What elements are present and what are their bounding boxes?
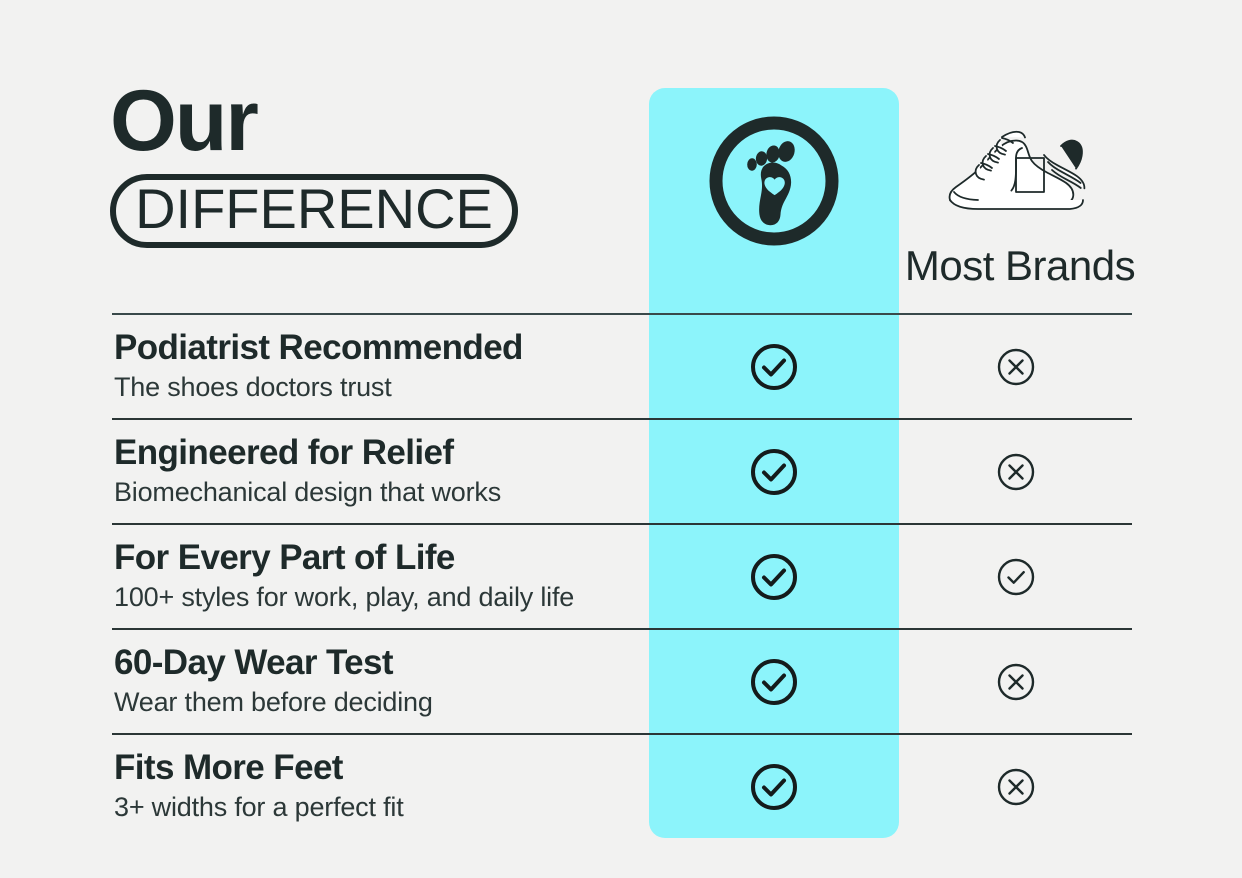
check-icon bbox=[749, 657, 799, 707]
table-row: Fits More Feet 3+ widths for a perfect f… bbox=[112, 735, 1132, 838]
theirs-cell bbox=[899, 452, 1132, 492]
check-icon bbox=[996, 557, 1036, 597]
check-icon bbox=[749, 762, 799, 812]
ours-cell bbox=[649, 447, 899, 497]
page-title-pill-label: DIFFERENCE bbox=[135, 181, 493, 241]
feature-text: Fits More Feet 3+ widths for a perfect f… bbox=[112, 748, 649, 824]
feature-title: Engineered for Relief bbox=[114, 433, 649, 472]
table-row: For Every Part of Life 100+ styles for w… bbox=[112, 525, 1132, 628]
check-icon bbox=[749, 342, 799, 392]
feature-text: Engineered for Relief Biomechanical desi… bbox=[112, 433, 649, 509]
table-row: 60-Day Wear Test Wear them before decidi… bbox=[112, 630, 1132, 733]
feature-subtitle: 100+ styles for work, play, and daily li… bbox=[114, 580, 649, 615]
theirs-cell bbox=[899, 767, 1132, 807]
ours-cell bbox=[649, 762, 899, 812]
ours-cell bbox=[649, 552, 899, 602]
cross-icon bbox=[996, 452, 1036, 492]
feature-title: Podiatrist Recommended bbox=[114, 328, 649, 367]
feature-subtitle: Biomechanical design that works bbox=[114, 475, 649, 510]
check-icon bbox=[749, 447, 799, 497]
page-title: Our bbox=[110, 78, 257, 164]
sneaker-illustration bbox=[944, 104, 1104, 224]
table-row: Engineered for Relief Biomechanical desi… bbox=[112, 420, 1132, 523]
comparison-page: Our DIFFERENCE bbox=[0, 0, 1242, 878]
feature-subtitle: The shoes doctors trust bbox=[114, 370, 649, 405]
ours-cell bbox=[649, 342, 899, 392]
page-header: Our DIFFERENCE bbox=[0, 0, 1242, 310]
ours-cell bbox=[649, 657, 899, 707]
cross-icon bbox=[996, 662, 1036, 702]
theirs-cell bbox=[899, 557, 1132, 597]
theirs-cell bbox=[899, 347, 1132, 387]
feature-subtitle: Wear them before deciding bbox=[114, 685, 649, 720]
page-title-pill: DIFFERENCE bbox=[110, 174, 518, 248]
feature-title: 60-Day Wear Test bbox=[114, 643, 649, 682]
feature-title: For Every Part of Life bbox=[114, 538, 649, 577]
check-icon bbox=[749, 552, 799, 602]
table-row: Podiatrist Recommended The shoes doctors… bbox=[112, 315, 1132, 418]
competitor-column-label: Most Brands bbox=[899, 245, 1141, 287]
feature-text: 60-Day Wear Test Wear them before decidi… bbox=[112, 643, 649, 719]
comparison-table: Podiatrist Recommended The shoes doctors… bbox=[112, 313, 1132, 838]
theirs-cell bbox=[899, 662, 1132, 702]
feature-subtitle: 3+ widths for a perfect fit bbox=[114, 790, 649, 825]
foot-heart-logo-icon bbox=[706, 113, 842, 249]
feature-title: Fits More Feet bbox=[114, 748, 649, 787]
feature-text: For Every Part of Life 100+ styles for w… bbox=[112, 538, 649, 614]
cross-icon bbox=[996, 347, 1036, 387]
feature-text: Podiatrist Recommended The shoes doctors… bbox=[112, 328, 649, 404]
cross-icon bbox=[996, 767, 1036, 807]
